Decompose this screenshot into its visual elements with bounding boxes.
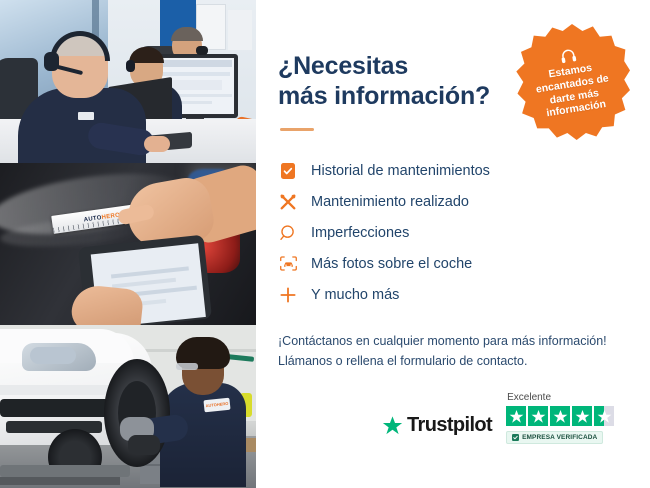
star-half xyxy=(594,406,614,426)
verified-company-label: EMPRESA VERIFICADA xyxy=(522,434,597,441)
trustpilot-star-icon xyxy=(382,415,403,436)
checklist-document-icon xyxy=(278,161,298,181)
trustpilot-wordmark: Trustpilot xyxy=(407,414,492,437)
headline-line-1: ¿Necesitas xyxy=(278,52,408,80)
magnifier-icon xyxy=(278,223,298,243)
feature-label: Y mucho más xyxy=(311,287,399,303)
feature-item: Más fotos sobre el coche xyxy=(278,248,624,279)
contact-line-2: Llámanos o rellena el formulario de cont… xyxy=(278,351,624,371)
crossed-tools-icon xyxy=(278,192,298,212)
page-title: ¿Necesitas más información? xyxy=(278,52,528,111)
feature-item: Historial de mantenimientos xyxy=(278,155,624,186)
feature-label: Historial de mantenimientos xyxy=(311,163,490,179)
content-panel: ¿Necesitas más información? Estamos enca… xyxy=(256,0,650,488)
contact-line-1: ¡Contáctanos en cualquier momento para m… xyxy=(278,331,624,351)
call-center-agents-photo xyxy=(0,0,256,163)
feature-label: Mantenimiento realizado xyxy=(311,194,469,210)
title-divider xyxy=(280,128,314,131)
star-filled xyxy=(550,406,570,426)
feature-label: Más fotos sobre el coche xyxy=(311,256,472,272)
trustpilot-rating-label: Excelente xyxy=(507,392,614,403)
star-filled xyxy=(506,406,526,426)
car-photo-frame-icon xyxy=(278,254,298,274)
contact-text: ¡Contáctanos en cualquier momento para m… xyxy=(278,331,624,372)
plus-icon xyxy=(278,285,298,305)
feature-list: Historial de mantenimientos Mantenimient… xyxy=(278,155,624,310)
car-inspection-ruler-photo: AUTOHERO xyxy=(0,163,256,325)
feature-item: Mantenimiento realizado xyxy=(278,186,624,217)
feature-label: Imperfecciones xyxy=(311,225,409,241)
headset-icon xyxy=(558,47,577,64)
star-filled xyxy=(528,406,548,426)
support-badge: Estamos encantados de darte más informac… xyxy=(514,24,630,140)
verified-company-badge: EMPRESA VERIFICADA xyxy=(506,431,603,444)
trustpilot-widget[interactable]: Trustpilot Excelente xyxy=(382,392,614,446)
trustpilot-stars xyxy=(506,406,614,426)
trustpilot-logo[interactable]: Trustpilot xyxy=(382,414,492,446)
feature-item: Y mucho más xyxy=(278,279,624,310)
headline-line-2: más información? xyxy=(278,82,490,110)
star-filled xyxy=(572,406,592,426)
photo-collage: AUTOHERO AUTOHERO xyxy=(0,0,256,488)
feature-item: Imperfecciones xyxy=(278,217,624,248)
promo-card: AUTOHERO AUTOHERO xyxy=(0,0,650,488)
mechanic-wheel-inspection-photo: AUTOHERO xyxy=(0,325,256,488)
verified-check-icon xyxy=(512,434,519,441)
